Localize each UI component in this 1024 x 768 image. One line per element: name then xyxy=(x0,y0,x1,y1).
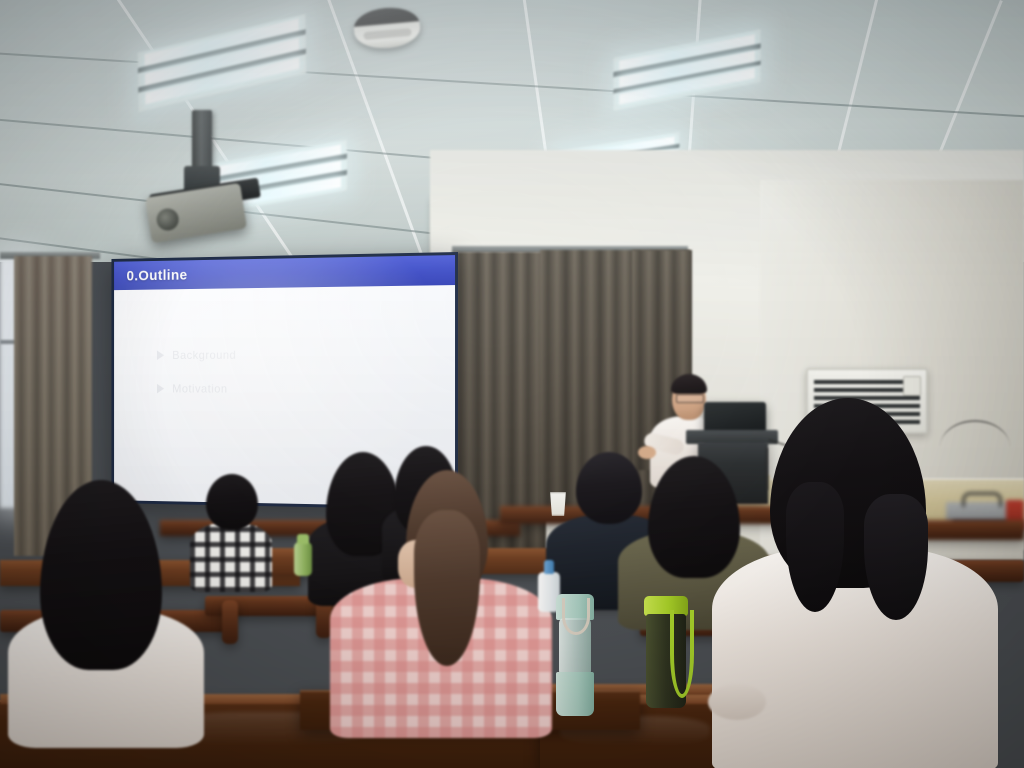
attendee-back-left xyxy=(196,474,266,574)
ceiling-light-panel xyxy=(209,139,347,214)
attendee-gingham xyxy=(330,470,560,730)
ceiling-grid-line xyxy=(110,0,297,262)
aircon-display xyxy=(903,376,921,396)
attendee-front-right xyxy=(712,398,1012,768)
ceiling-light-panel xyxy=(613,29,760,111)
bottle-body xyxy=(294,542,312,576)
small-green-bottle xyxy=(294,534,312,576)
ceiling-grid-line xyxy=(0,52,1024,118)
attendee-head xyxy=(206,474,258,530)
bottle-rope-handle xyxy=(562,598,590,635)
bench-armrest xyxy=(222,600,238,644)
presenter-hair xyxy=(671,374,707,394)
slide-bullet: Background xyxy=(157,347,455,362)
projector-icon xyxy=(145,183,247,243)
lecture-hall-photo: 0.Outline Background Motivation xyxy=(0,0,1024,768)
attendee-hair xyxy=(40,480,162,670)
ceiling-grid-line xyxy=(320,0,439,262)
slide-bullet-label: Background xyxy=(172,348,236,362)
bottle-sleeve-bottom xyxy=(556,672,594,716)
bottle-cap xyxy=(297,534,309,544)
smoke-detector-icon xyxy=(352,5,421,51)
slide-bullet-label: Motivation xyxy=(172,382,227,396)
bullet-arrow-icon xyxy=(157,350,164,360)
projector-bracket xyxy=(149,178,261,215)
bottle-cap xyxy=(544,560,554,574)
bottle-strap xyxy=(670,610,694,698)
projector-mount-head xyxy=(184,166,220,196)
projector-mount-pole xyxy=(192,110,212,172)
ceiling-light-panel xyxy=(138,14,307,112)
glasses-icon xyxy=(676,394,704,403)
paper-cup xyxy=(549,492,567,516)
mint-green-glass-bottle xyxy=(556,594,594,716)
attendee-hand xyxy=(708,684,766,720)
slide-bullet: Motivation xyxy=(157,382,455,396)
attendee-front-left xyxy=(22,480,188,730)
lime-green-bottle xyxy=(644,596,688,708)
slide-title: 0.Outline xyxy=(127,267,188,284)
attendee-torso xyxy=(190,522,272,592)
bullet-arrow-icon xyxy=(157,384,164,394)
